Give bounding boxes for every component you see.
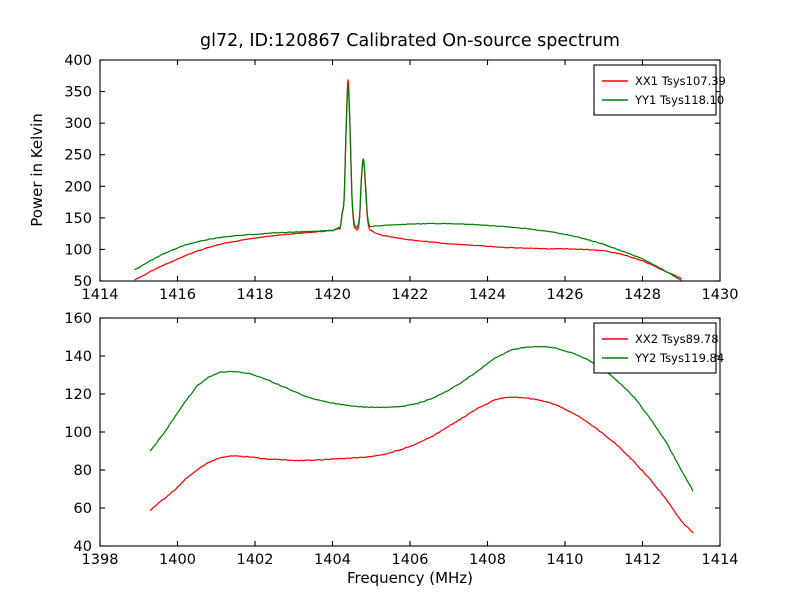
y-tick-label: 100 bbox=[64, 425, 92, 441]
x-tick-label: 1414 bbox=[702, 552, 739, 568]
y-tick-label: 50 bbox=[74, 274, 92, 290]
bottom-panel: 139814001402140414061408141014121414 406… bbox=[64, 311, 738, 587]
y-tick-label: 100 bbox=[64, 242, 92, 258]
y-tick-label: 60 bbox=[74, 501, 92, 517]
legend-entry-label: XX1 Tsys107.39 bbox=[635, 74, 726, 88]
y-tick-label: 150 bbox=[64, 211, 92, 227]
y-tick-label: 400 bbox=[64, 53, 92, 69]
x-tick-label: 1430 bbox=[702, 287, 739, 303]
x-tick-label: 1420 bbox=[314, 287, 351, 303]
x-tick-label: 1408 bbox=[469, 552, 506, 568]
x-tick-label: 1402 bbox=[237, 552, 274, 568]
legend-entry-label: XX2 Tsys89.78 bbox=[635, 332, 719, 346]
y-tick-label: 160 bbox=[64, 311, 92, 327]
y-tick-label: 140 bbox=[64, 349, 92, 365]
x-tick-label: 1418 bbox=[237, 287, 274, 303]
top-panel: 141414161418142014221424142614281430 501… bbox=[28, 53, 738, 303]
x-tick-label: 1422 bbox=[392, 287, 429, 303]
bottom-panel-series-group bbox=[150, 346, 693, 532]
bottom-panel-x-axis-label: Frequency (MHz) bbox=[347, 569, 473, 587]
x-tick-label: 1406 bbox=[392, 552, 429, 568]
y-tick-label: 80 bbox=[74, 463, 92, 479]
x-tick-label: 1424 bbox=[469, 287, 506, 303]
bottom-panel-legend[interactable]: XX2 Tsys89.78YY2 Tsys119.84 bbox=[594, 323, 724, 373]
top-panel-y-axis-label: Power in Kelvin bbox=[28, 113, 46, 227]
top-panel-legend[interactable]: XX1 Tsys107.39YY1 Tsys118.10 bbox=[594, 65, 726, 115]
y-tick-label: 300 bbox=[64, 116, 92, 132]
x-tick-label: 1410 bbox=[547, 552, 584, 568]
y-tick-label: 350 bbox=[64, 85, 92, 101]
y-tick-label: 120 bbox=[64, 387, 92, 403]
series-line-xx2 bbox=[150, 397, 693, 533]
y-tick-label: 250 bbox=[64, 148, 92, 164]
x-tick-label: 1416 bbox=[159, 287, 196, 303]
x-tick-label: 1426 bbox=[547, 287, 584, 303]
y-tick-label: 40 bbox=[74, 539, 92, 555]
spectrum-plot-svg: gl72, ID:120867 Calibrated On-source spe… bbox=[0, 0, 800, 600]
figure-canvas: gl72, ID:120867 Calibrated On-source spe… bbox=[0, 0, 800, 600]
legend-entry-label: YY1 Tsys118.10 bbox=[634, 93, 724, 107]
y-tick-label: 200 bbox=[64, 179, 92, 195]
x-tick-label: 1400 bbox=[159, 552, 196, 568]
legend-entry-label: YY2 Tsys119.84 bbox=[634, 351, 724, 365]
page-title: gl72, ID:120867 Calibrated On-source spe… bbox=[200, 31, 620, 51]
x-tick-label: 1428 bbox=[624, 287, 661, 303]
x-tick-label: 1404 bbox=[314, 552, 351, 568]
x-tick-label: 1412 bbox=[624, 552, 661, 568]
